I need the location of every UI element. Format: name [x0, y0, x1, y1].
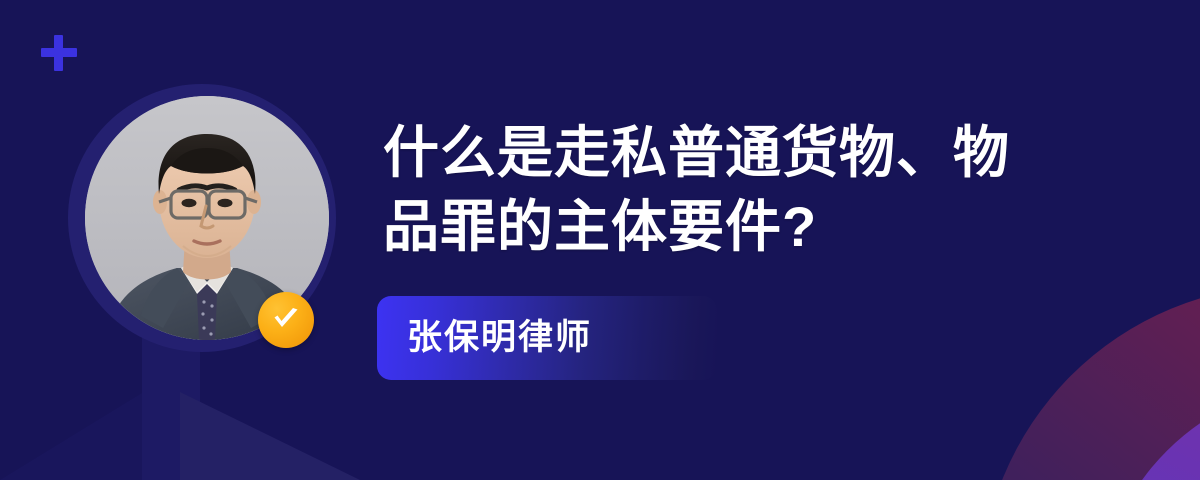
- lawyer-name-label: 张保明律师: [407, 314, 592, 362]
- pedestal-wedge-shape: [180, 392, 360, 480]
- avatar: [68, 78, 344, 374]
- decorative-arc-outer: [980, 285, 1200, 480]
- verified-badge-icon: [258, 292, 314, 348]
- qa-banner: 什么是走私普通货物、物 品罪的主体要件? 张保明律师: [0, 0, 1200, 480]
- decorative-arc-inner: [1098, 382, 1200, 480]
- headline-block: 什么是走私普通货物、物 品罪的主体要件?: [383, 116, 1143, 264]
- pedestal-shadow-shape: [0, 388, 150, 480]
- plus-icon: [40, 34, 78, 72]
- page-title: 什么是走私普通货物、物 品罪的主体要件?: [383, 116, 1143, 264]
- lawyer-name-badge[interactable]: 张保明律师: [377, 296, 717, 380]
